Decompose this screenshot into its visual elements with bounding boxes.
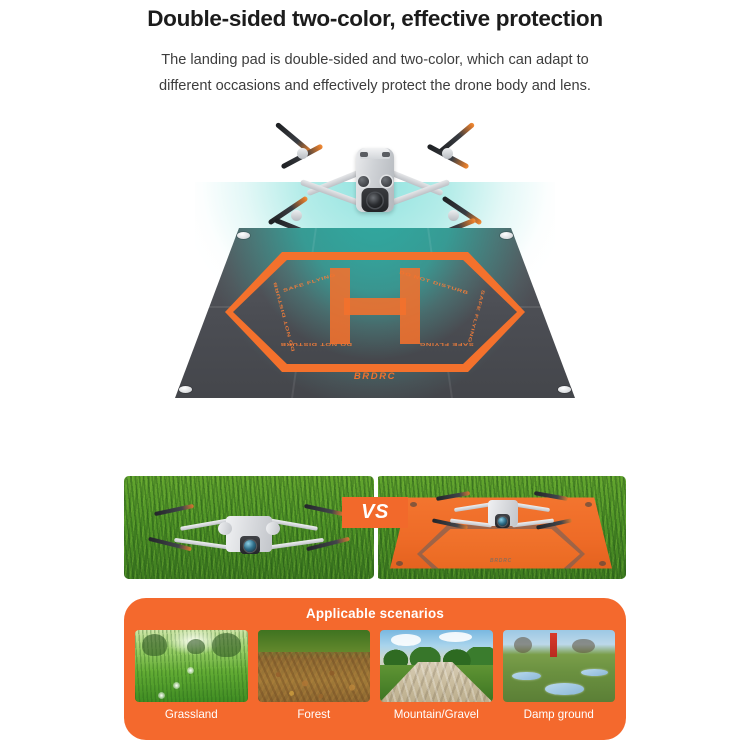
hero-illustration: SAFE FLYING DO NOT DISTURB DO NOT DISTUR…	[0, 120, 750, 410]
scenario-label: Forest	[258, 708, 371, 721]
drone-vision-sensor	[381, 176, 392, 187]
puddle-shape	[512, 672, 541, 681]
scenario-label: Grassland	[135, 708, 248, 721]
drone-motor	[291, 210, 302, 221]
pad-grommet	[410, 502, 417, 507]
pad-grommet	[585, 502, 592, 507]
ring-text-segment: SAFE FLYING	[282, 272, 336, 293]
camera-lens-icon	[244, 540, 256, 552]
pad-brand-label: BRDRC	[490, 558, 512, 564]
drone-sensor	[360, 152, 368, 157]
grassland-scene	[135, 630, 248, 702]
drone-motor	[448, 210, 459, 221]
mountain-gravel-scene	[380, 630, 493, 702]
tree-shape	[212, 633, 241, 657]
page-title: Double-sided two-color, effective protec…	[0, 6, 750, 32]
propeller-blade-icon	[304, 504, 344, 516]
ring-text-segment: SAFE FLYING	[467, 289, 486, 343]
propeller-blade-icon	[154, 504, 194, 516]
camera-lens-icon	[498, 517, 507, 526]
drone-motor	[297, 148, 308, 159]
scenario-item-grassland: Grassland	[135, 630, 248, 721]
comparison-photo-without-pad	[124, 476, 374, 579]
drone-motor	[442, 148, 453, 159]
pad-brand-label: BRDRC	[354, 371, 396, 382]
puddle-shape	[545, 683, 583, 695]
pad-grommet	[500, 232, 513, 239]
cloud-shape	[391, 634, 420, 646]
tree-shape	[142, 634, 167, 656]
scenarios-title: Applicable scenarios	[124, 598, 626, 621]
drone-sensor	[382, 152, 390, 157]
forest-scene	[258, 630, 371, 702]
drone-vision-sensor	[358, 176, 369, 187]
drone-on-pad	[438, 490, 566, 538]
page-subcopy: The landing pad is double-sided and two-…	[140, 48, 610, 100]
dandelion-shape	[158, 692, 165, 699]
dandelion-shape	[173, 682, 180, 689]
drone-illustration	[275, 126, 475, 236]
puddle-shape	[581, 669, 608, 676]
comparison-section: BRDRC VS	[0, 476, 750, 579]
cloud-shape	[439, 632, 473, 642]
propeller-blade-icon	[534, 491, 568, 500]
scenario-item-damp-ground: Damp ground	[503, 630, 616, 721]
scenario-thumbnail	[380, 630, 493, 702]
header-section: Double-sided two-color, effective protec…	[0, 0, 750, 100]
scenario-item-mountain-gravel: Mountain/Gravel	[380, 630, 493, 721]
drone-on-grass	[158, 502, 340, 560]
scenarios-grid: Grassland Forest Mountain	[135, 630, 615, 721]
scenario-label: Damp ground	[503, 708, 616, 721]
tree-canopy-shape	[258, 630, 371, 652]
drone-vision-sensor	[218, 522, 232, 535]
red-tower-shape	[550, 633, 557, 657]
pad-grommet	[237, 232, 250, 239]
camera-lens-icon	[368, 193, 383, 208]
scenario-thumbnail	[135, 630, 248, 702]
drone-vision-sensor	[266, 522, 280, 535]
bare-tree-shape	[572, 639, 595, 653]
h-crossbar	[344, 298, 406, 315]
pad-grommet	[599, 561, 606, 566]
pad-grommet	[179, 386, 192, 393]
scenario-thumbnail	[258, 630, 371, 702]
helipad-h-marking	[330, 268, 420, 344]
damp-ground-scene	[503, 630, 616, 702]
scenario-item-forest: Forest	[258, 630, 371, 721]
ring-text-segment: SAFE FLYING	[419, 342, 474, 347]
pad-grommet	[558, 386, 571, 393]
landing-pad-gray-side: SAFE FLYING DO NOT DISTURB DO NOT DISTUR…	[175, 228, 575, 398]
scenario-thumbnail	[503, 630, 616, 702]
vs-badge: VS	[342, 497, 408, 528]
propeller-blade-icon	[436, 491, 470, 500]
scenario-label: Mountain/Gravel	[380, 708, 493, 721]
comparison-photo-with-pad: BRDRC	[376, 476, 626, 579]
pad-grommet	[396, 561, 403, 566]
dandelion-shape	[187, 667, 194, 674]
bare-tree-shape	[514, 637, 532, 653]
applicable-scenarios-panel: Applicable scenarios Grassland	[124, 598, 626, 740]
tree-shape	[187, 639, 205, 655]
